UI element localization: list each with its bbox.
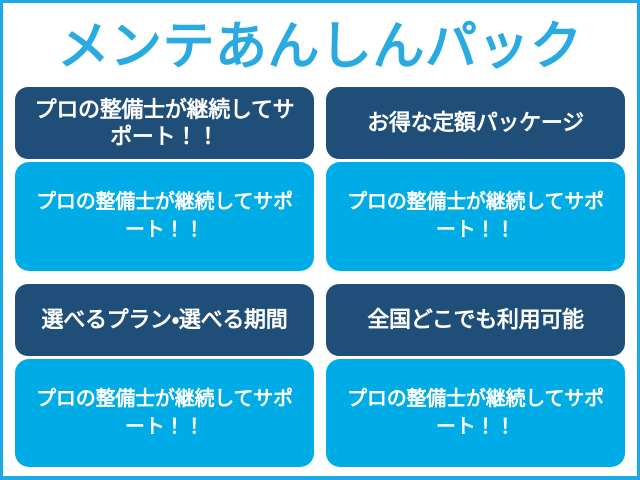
feature-body-1: プロの整備士が継続してサポート！！ <box>15 162 314 271</box>
feature-grid: プロの整備士が継続してサポート！！ プロの整備士が継続してサポート！！ お得な定… <box>3 87 637 473</box>
feature-body-2: プロの整備士が継続してサポート！！ <box>326 162 625 271</box>
feature-body-3: プロの整備士が継続してサポート！！ <box>15 359 314 468</box>
feature-card-4: 全国どこでも利用可能 プロの整備士が継続してサポート！！ <box>326 284 625 468</box>
feature-body-4: プロの整備士が継続してサポート！！ <box>326 359 625 468</box>
feature-card-1: プロの整備士が継続してサポート！！ プロの整備士が継続してサポート！！ <box>15 87 314 271</box>
feature-heading-1: プロの整備士が継続してサポート！！ <box>15 87 314 159</box>
banner-header: メンテあんしんパック <box>3 3 637 87</box>
feature-heading-4: 全国どこでも利用可能 <box>326 284 625 356</box>
feature-card-2: お得な定額パッケージ プロの整備士が継続してサポート！！ <box>326 87 625 271</box>
feature-heading-2: お得な定額パッケージ <box>326 87 625 159</box>
feature-card-3: 選べるプラン・選べる期間 プロの整備士が継続してサポート！！ <box>15 284 314 468</box>
promo-banner: メンテあんしんパック プロの整備士が継続してサポート！！ プロの整備士が継続して… <box>0 0 640 480</box>
page-title: メンテあんしんパック <box>57 21 582 73</box>
feature-heading-3: 選べるプラン・選べる期間 <box>15 284 314 356</box>
